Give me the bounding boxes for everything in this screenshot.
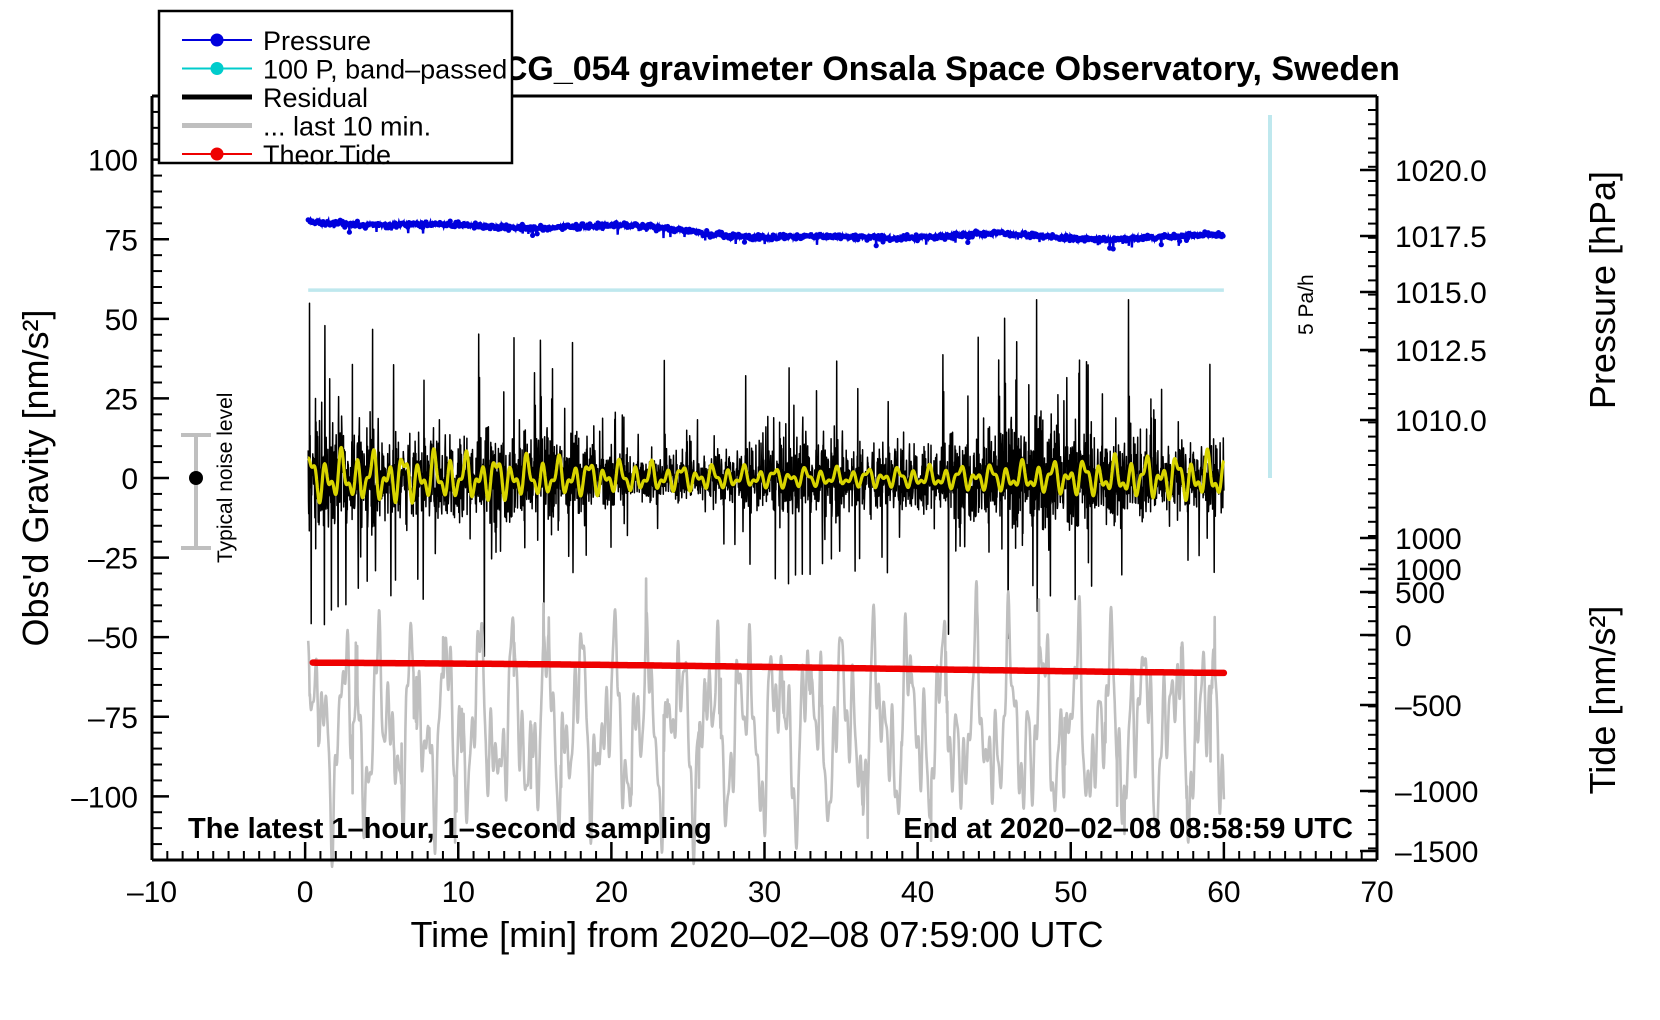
pressure-tick-label: 1020.0 bbox=[1395, 155, 1487, 188]
pressure-tick-label: 1015.0 bbox=[1395, 277, 1487, 310]
pressure-tick-label: 1010.0 bbox=[1395, 405, 1487, 438]
x-axis-title: Time [min] from 2020–02–08 07:59:00 UTC bbox=[410, 914, 1103, 955]
x-tick-label: –10 bbox=[127, 876, 177, 909]
tide-tick-label: –500 bbox=[1395, 690, 1462, 723]
y-tick-label: 0 bbox=[121, 463, 138, 496]
legend[interactable]: Pressure100 P, band–passedResidual... la… bbox=[159, 11, 512, 170]
x-tick-label: 0 bbox=[297, 876, 314, 909]
right-pressure-axis-title: Pressure [hPa] bbox=[1582, 171, 1623, 409]
typical-noise-level-label: Typical noise level bbox=[214, 393, 237, 563]
x-tick-label: 20 bbox=[595, 876, 628, 909]
x-tick-label: 10 bbox=[442, 876, 475, 909]
right-tide-axis-title: Tide [nm/s²] bbox=[1582, 606, 1623, 795]
x-tick-label: 40 bbox=[901, 876, 934, 909]
legend-item-label: Residual bbox=[263, 83, 368, 113]
sampling-annotation: The latest 1–hour, 1–second sampling bbox=[188, 813, 712, 845]
y-tick-label: 50 bbox=[105, 304, 138, 337]
legend-item-label: Pressure bbox=[263, 26, 371, 56]
end-time-annotation: End at 2020–02–08 08:58:59 UTC bbox=[903, 813, 1353, 845]
y-tick-label: 75 bbox=[105, 224, 138, 257]
x-tick-label: 60 bbox=[1207, 876, 1240, 909]
tide-tick-label: –1000 bbox=[1395, 776, 1478, 809]
tide-tick-label: –1500 bbox=[1395, 836, 1478, 869]
pressure-tick-label: 1000 bbox=[1395, 523, 1462, 556]
x-tick-label: 30 bbox=[748, 876, 781, 909]
pressure-scale-bar-label: 5 Pa/h bbox=[1295, 274, 1318, 335]
legend-item-label: Theor.Tide bbox=[263, 140, 391, 170]
y-tick-label: –100 bbox=[71, 781, 138, 814]
pressure-tick-label: 1012.5 bbox=[1395, 335, 1487, 368]
x-tick-label: 50 bbox=[1054, 876, 1087, 909]
legend-item-label: ... last 10 min. bbox=[263, 112, 431, 142]
y-tick-label: –75 bbox=[88, 702, 138, 735]
pressure-tick-label: 1017.5 bbox=[1395, 221, 1487, 254]
legend-item-label: 100 P, band–passed bbox=[263, 55, 507, 85]
y-tick-label: 100 bbox=[88, 145, 138, 178]
gravimeter-plot-figure: Typical noise level 5 Pa/h 1007550250–25… bbox=[0, 0, 1660, 1020]
tide-tick-label: 500 bbox=[1395, 577, 1445, 610]
y-tick-label: –25 bbox=[88, 543, 138, 576]
y-tick-label: 25 bbox=[105, 383, 138, 416]
plot-canvas: Typical noise level 5 Pa/h 1007550250–25… bbox=[0, 0, 1660, 1020]
y-axis-title: Obs'd Gravity [nm/s²] bbox=[15, 310, 56, 647]
y-tick-label: –50 bbox=[88, 622, 138, 655]
x-tick-label: 70 bbox=[1360, 876, 1393, 909]
tide-tick-label: 0 bbox=[1395, 620, 1412, 653]
page-title: SCG_054 gravimeter Onsala Space Observat… bbox=[480, 50, 1400, 88]
